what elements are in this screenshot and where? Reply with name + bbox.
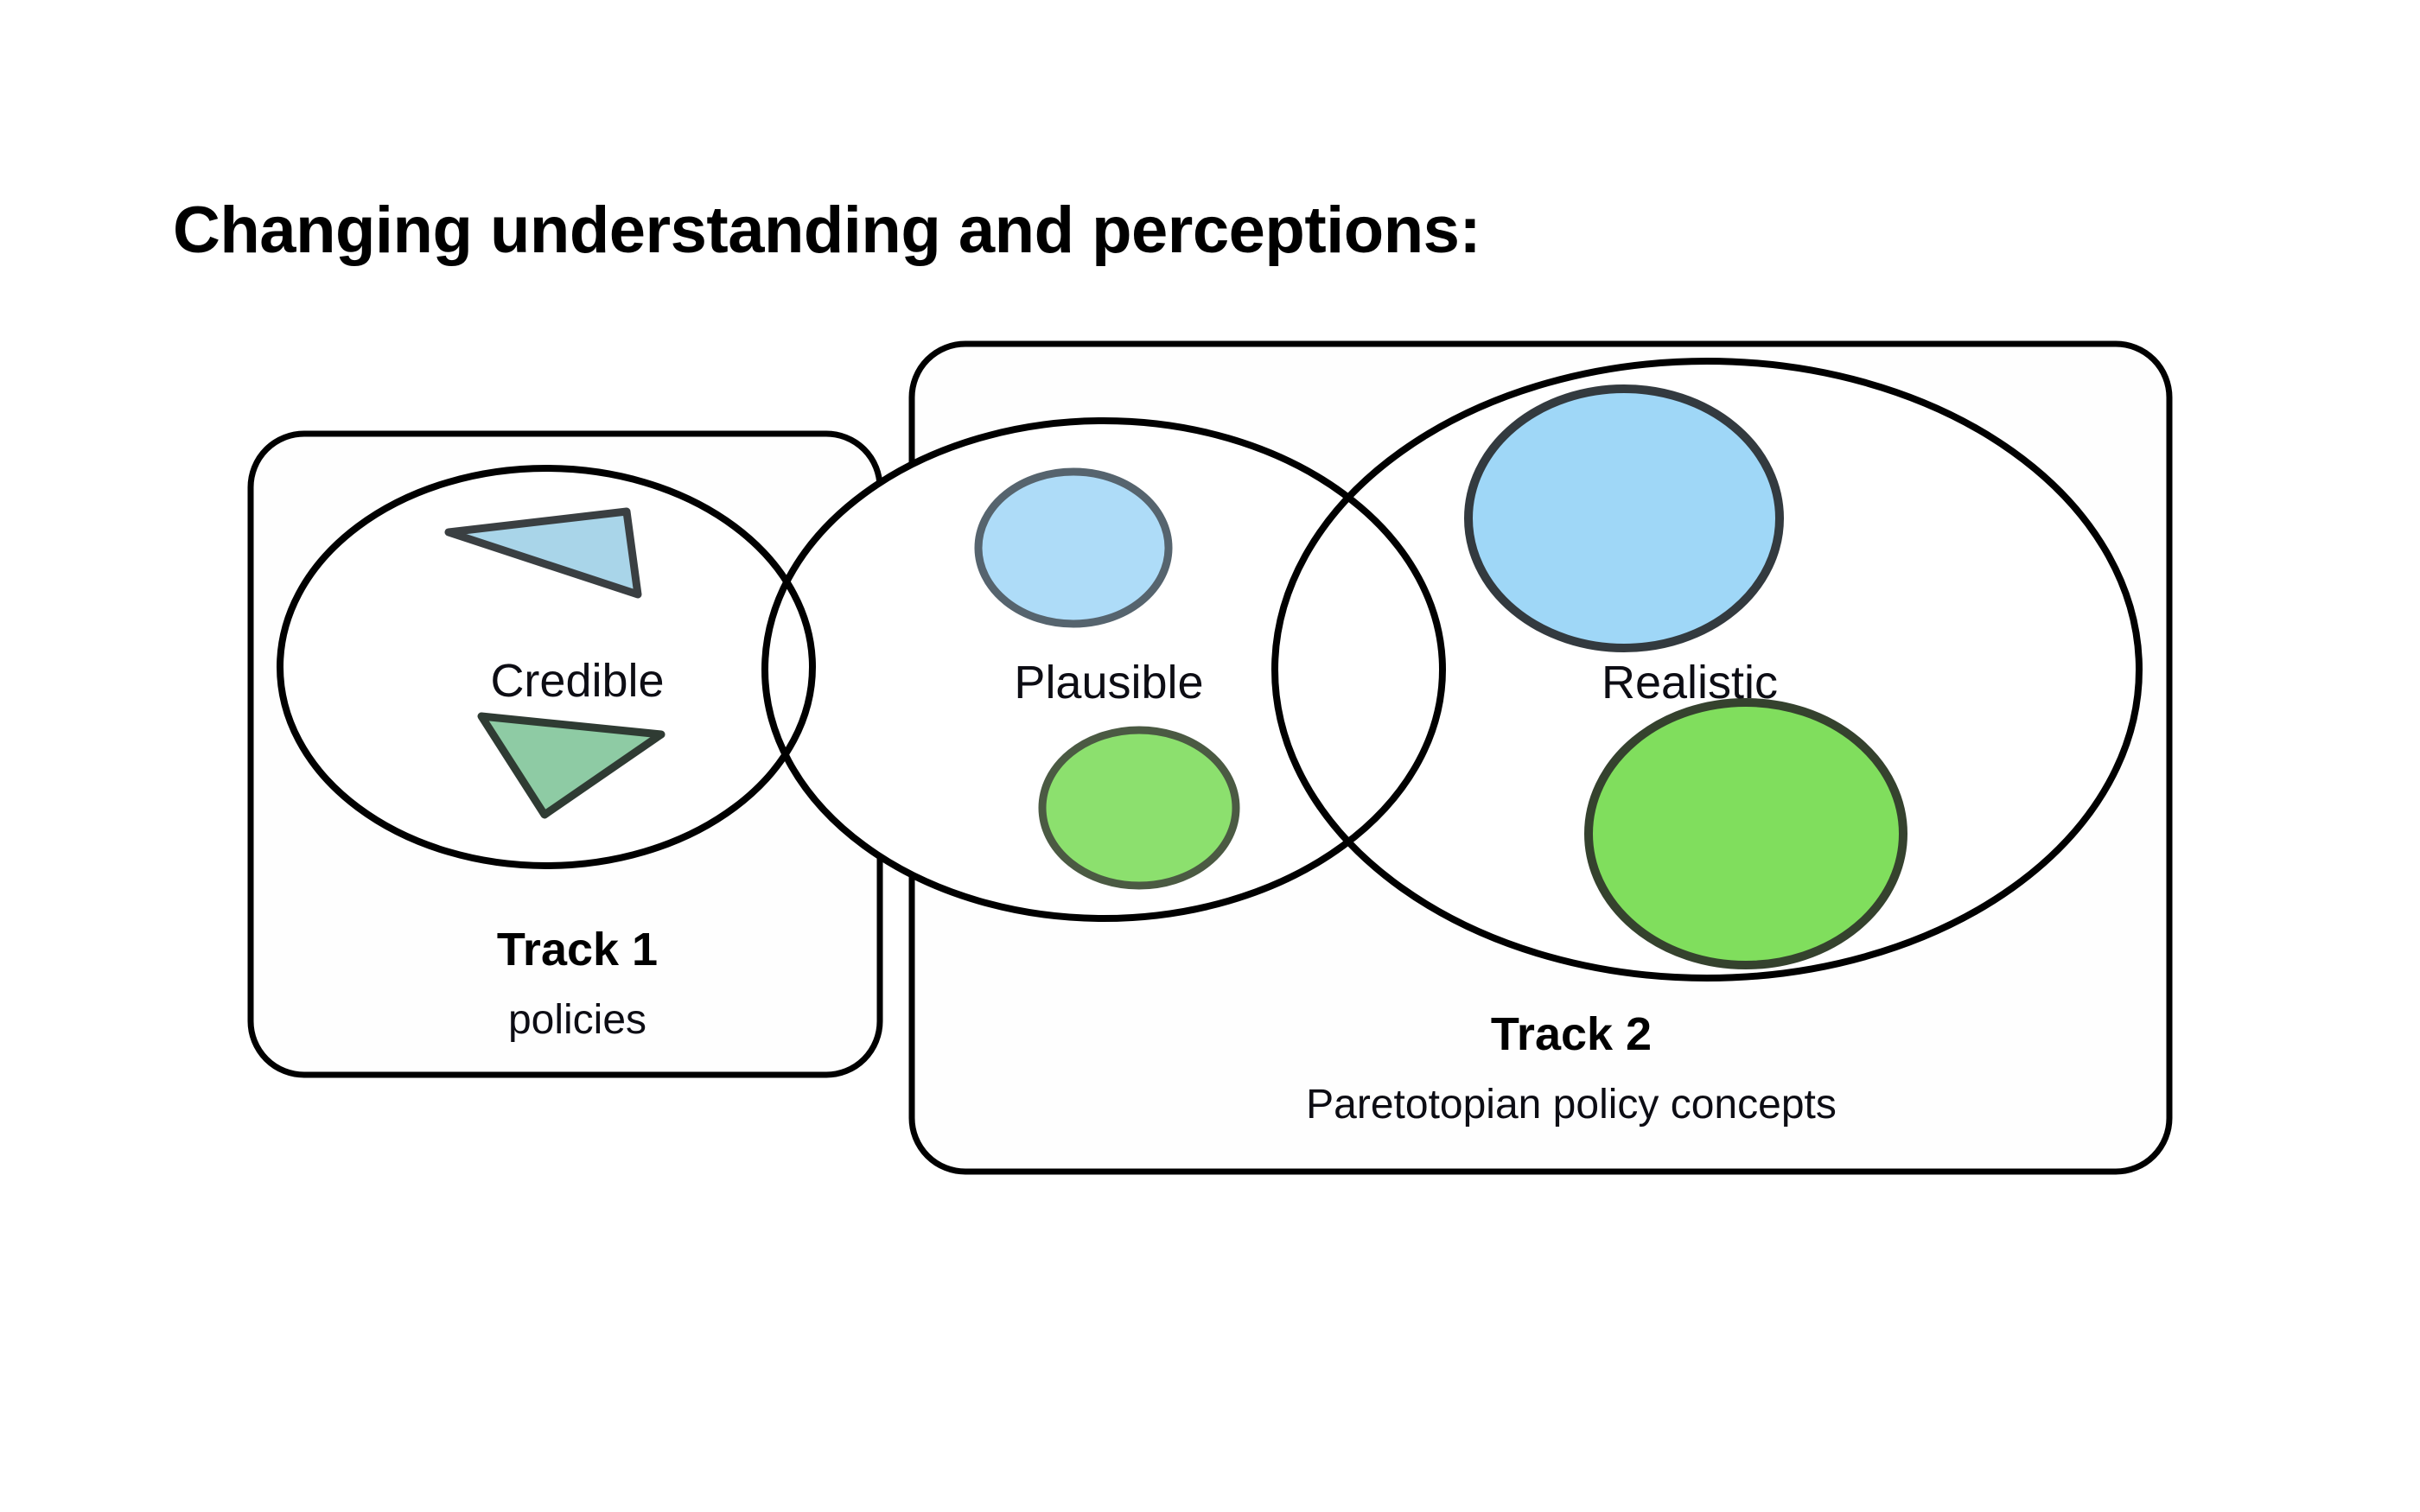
- diagram-canvas: Changing understanding and perceptions: …: [0, 0, 2420, 1512]
- green-ellipse-medium[interactable]: [1042, 730, 1236, 886]
- track-2-title: Track 2: [1491, 1008, 1652, 1060]
- paretotopian-tracks-diagram: Changing understanding and perceptions: …: [0, 0, 2420, 1512]
- green-ellipse-large[interactable]: [1589, 702, 1903, 965]
- zone-label-plausible: Plausible: [1014, 657, 1203, 708]
- zone-label-realistic: Realistic: [1602, 657, 1778, 708]
- track-1-subtitle: policies: [508, 997, 646, 1043]
- page-title: Changing understanding and perceptions:: [173, 194, 1481, 267]
- blue-ellipse-medium[interactable]: [978, 472, 1169, 624]
- track-2-subtitle: Paretotopian policy concepts: [1306, 1082, 1837, 1128]
- track-1-title: Track 1: [497, 924, 658, 975]
- blue-ellipse-large[interactable]: [1468, 389, 1780, 648]
- zone-label-credible: Credible: [490, 655, 664, 707]
